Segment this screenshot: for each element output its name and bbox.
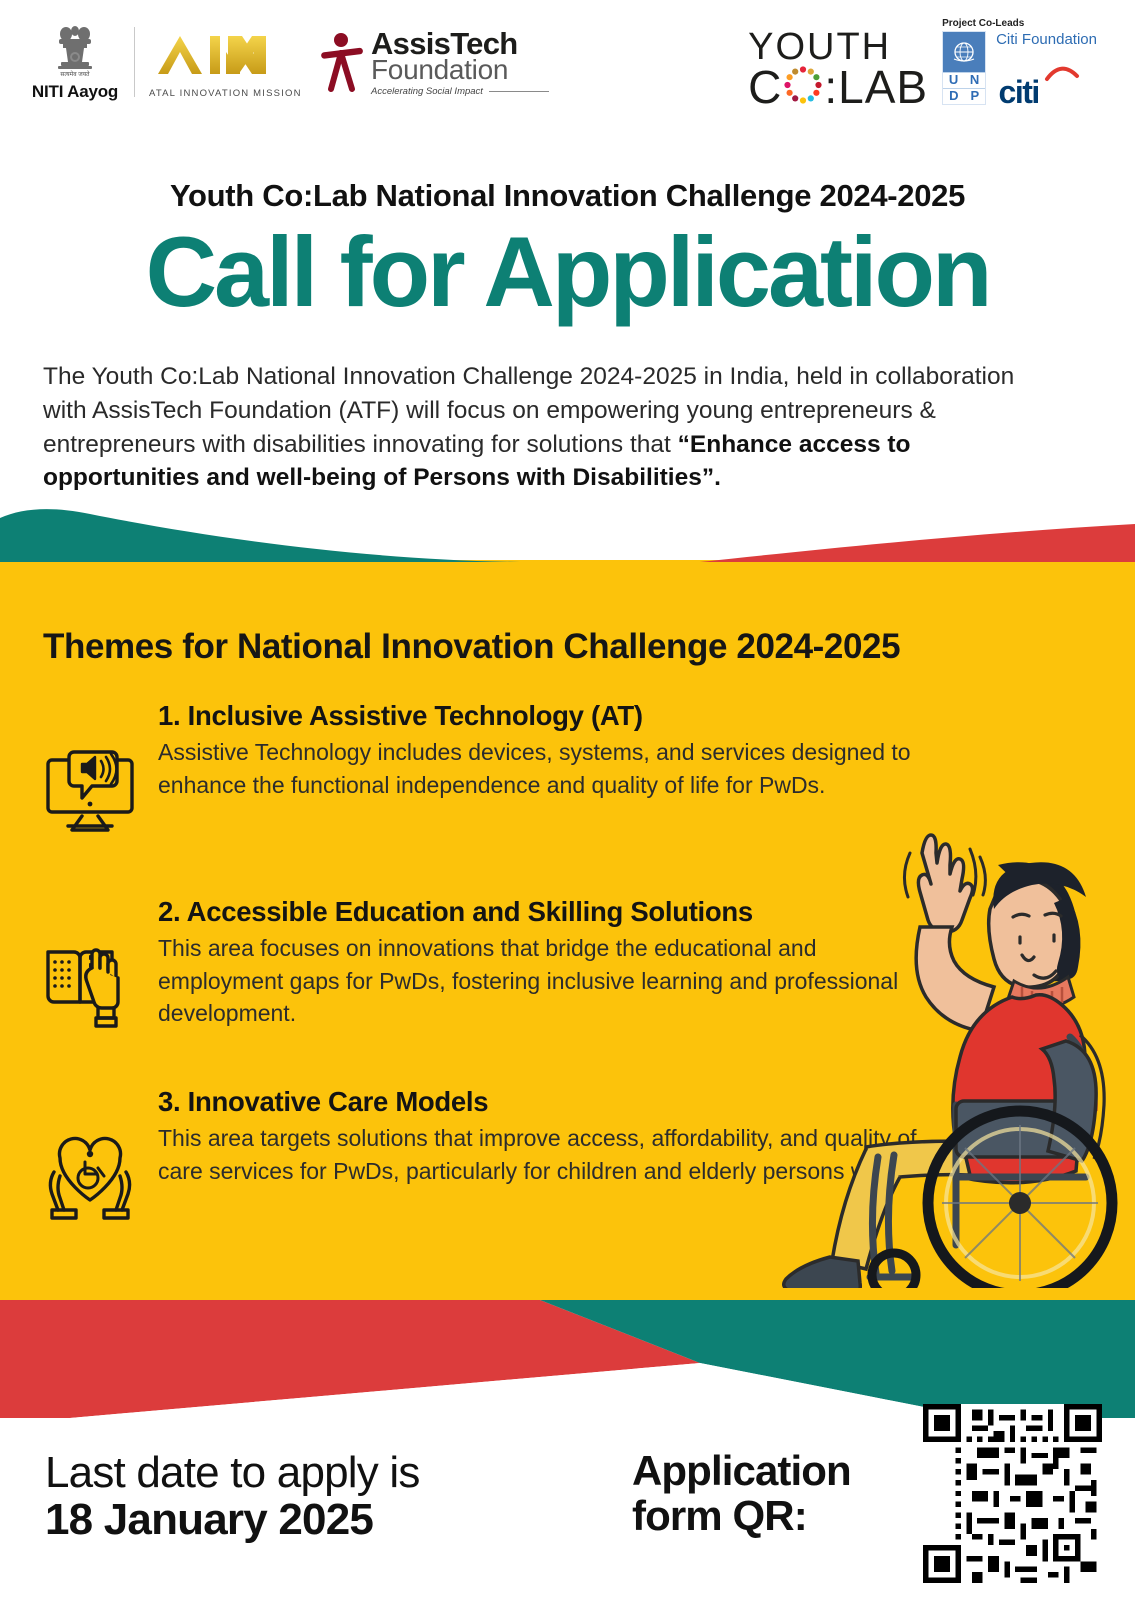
project-co-leads-group: Project Co-Leads (942, 18, 1097, 108)
undp-letters: U N D P (943, 72, 985, 104)
person-in-wheelchair-waving-illustration (770, 805, 1135, 1300)
bottom-wave-divider (0, 1288, 1135, 1418)
theme-heading: 1. Inclusive Assistive Technology (AT) (158, 700, 920, 732)
youth-colab-line1: YOUTH (748, 30, 928, 65)
project-co-leads-label: Project Co-Leads (942, 18, 1097, 29)
niti-aayog-logo: सत्यमेव जयते NITI Aayog (30, 22, 120, 102)
poster-subtitle: Youth Co:Lab National Innovation Challen… (0, 178, 1135, 214)
assistech-tagline-row: Accelerating Social Impact (371, 87, 549, 97)
undp-logo: U N D P (942, 31, 986, 105)
qr-label-line1: Application (632, 1448, 851, 1493)
page-title: Call for Application (0, 222, 1135, 321)
undp-letter-u: U (949, 73, 958, 88)
niti-aayog-label: NITI Aayog (30, 82, 120, 102)
heart-wheelchair-hands-icon (40, 1086, 150, 1229)
undp-letter-n: N (970, 73, 979, 88)
partner-logo-row: U N D P Citi Foundation (942, 31, 1097, 108)
assistech-name-line2: Foundation (371, 56, 549, 84)
right-logo-group: YOUTH C (748, 18, 1097, 112)
application-form-qr-code[interactable] (923, 1404, 1102, 1583)
top-wave-divider (0, 500, 1135, 572)
qr-label-line2: form QR: (632, 1493, 851, 1538)
undp-letter-d: D (949, 89, 958, 104)
citi-foundation-label: Citi Foundation (996, 31, 1097, 48)
deadline-label: Last date to apply is (45, 1450, 420, 1496)
themes-section-title: Themes for National Innovation Challenge… (43, 627, 900, 667)
citi-brand: citi (999, 62, 1095, 108)
undp-letter-p: P (970, 89, 979, 104)
youth-colab-c: C (748, 66, 782, 110)
citi-foundation-logo: Citi Foundation citi (996, 31, 1097, 108)
logo-bar: सत्यमेव जयते NITI Aayog (0, 0, 1135, 128)
aim-label: ATAL INNOVATION MISSION (149, 88, 299, 99)
qr-code-icon (923, 1404, 1102, 1583)
theme-description: Assistive Technology includes devices, s… (158, 736, 918, 801)
braille-book-hand-icon (40, 896, 150, 1039)
svg-text:सत्यमेव जयते: सत्यमेव जयते (60, 70, 90, 78)
india-state-emblem-icon: सत्यमेव जयते (30, 22, 120, 80)
youth-colab-lab: :LAB (824, 66, 928, 110)
assistech-tagline: Accelerating Social Impact (371, 87, 483, 97)
logo-divider (134, 27, 135, 97)
assistech-person-mark-icon (319, 31, 365, 93)
youth-colab-line2: C (748, 65, 928, 112)
atal-innovation-mission-logo: ATAL INNOVATION MISSION (149, 26, 299, 99)
un-globe-emblem-icon (943, 32, 985, 72)
aim-mark-icon (149, 26, 299, 82)
intro-paragraph: The Youth Co:Lab National Innovation Cha… (43, 360, 1043, 495)
sdg-color-ring-icon (783, 65, 823, 112)
monitor-speaker-icon (40, 700, 150, 843)
theme-body: 1. Inclusive Assistive Technology (AT) A… (150, 700, 920, 801)
tagline-rule (489, 91, 549, 92)
deadline-block: Last date to apply is 18 January 2025 (45, 1450, 420, 1544)
left-logo-group: सत्यमेव जयते NITI Aayog (30, 22, 549, 102)
youth-colab-logo: YOUTH C (748, 18, 928, 112)
assistech-foundation-logo: AssisTech Foundation Accelerating Social… (319, 28, 549, 97)
deadline-date: 18 January 2025 (45, 1496, 420, 1544)
qr-label-block: Application form QR: (632, 1448, 851, 1539)
